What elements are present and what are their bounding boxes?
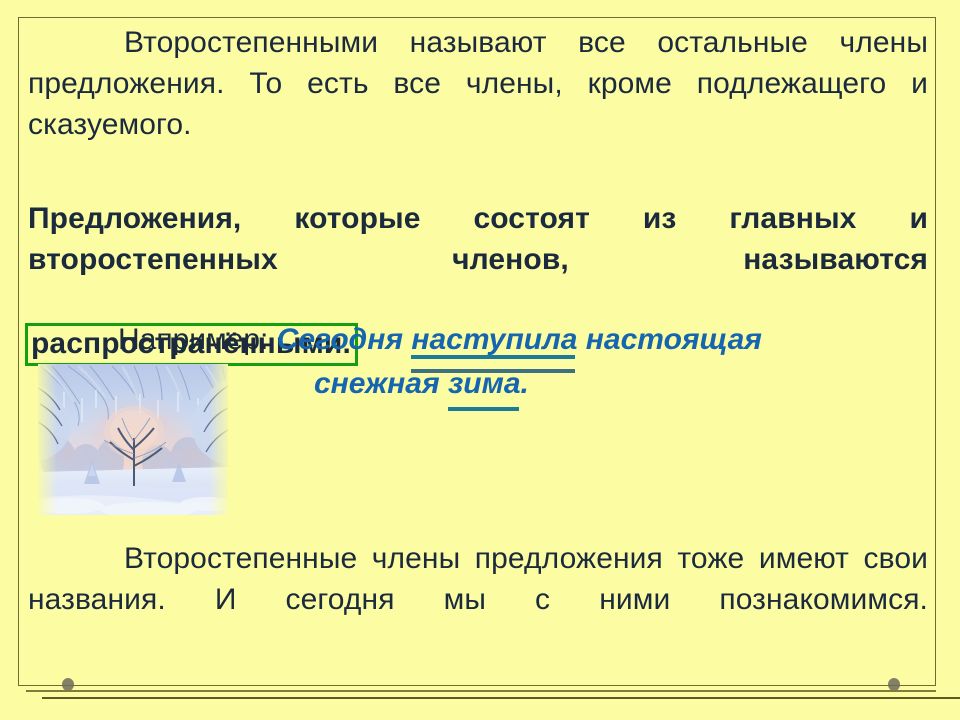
paragraph-closing: Второстепенные члены предложения тоже им… [28, 538, 928, 661]
example-word-zima-subject: зима [448, 362, 521, 406]
example-word-segodnya: Сегодня [277, 323, 403, 356]
decorative-rule-lower [42, 697, 960, 699]
example-line-2: снежная зима. [118, 362, 908, 406]
slide: Второстепенными называют все остальные ч… [0, 0, 960, 720]
example-label: Например: [118, 323, 268, 356]
paragraph-intro: Второстепенными называют все остальные ч… [28, 22, 928, 186]
paragraph-rule: Предложения, которые состоят из главных … [28, 198, 928, 321]
closing-text: Второстепенные члены предложения тоже им… [28, 538, 928, 661]
example-word-nastupila-predicate: наступила [411, 318, 577, 362]
rule-text: Предложения, которые состоят из главных … [28, 202, 928, 276]
decorative-rule-upper [26, 690, 936, 692]
text-content: Второстепенными называют все остальные ч… [28, 22, 928, 366]
example-word-nastoyashchaya: настоящая [586, 323, 762, 356]
winter-landscape-illustration [38, 364, 228, 515]
winter-landscape-photo [38, 364, 228, 515]
example-block: Например: Сегодня наступила настоящая сн… [118, 318, 908, 406]
example-line-1: Например: Сегодня наступила настоящая [118, 318, 908, 362]
